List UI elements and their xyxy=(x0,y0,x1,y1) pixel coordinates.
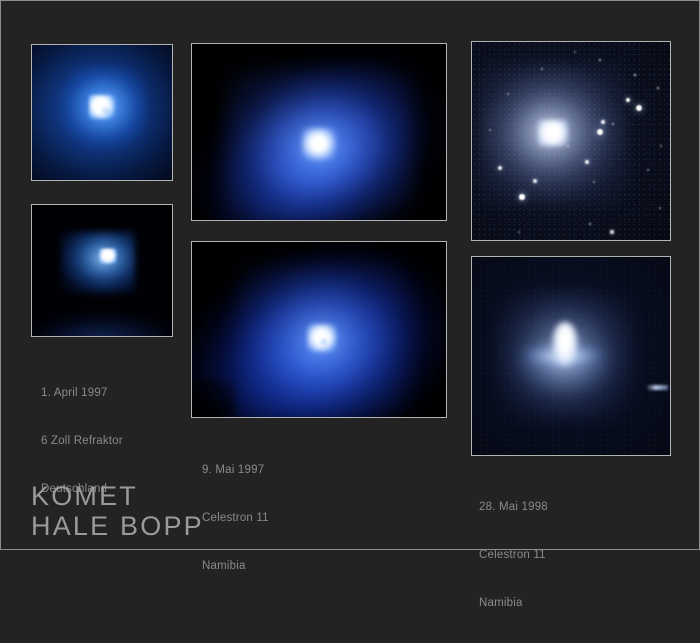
star xyxy=(601,120,605,124)
star xyxy=(610,230,613,233)
comet-photo-center-top[interactable] xyxy=(191,43,447,221)
star xyxy=(533,179,537,183)
star xyxy=(585,160,589,164)
star xyxy=(519,194,524,199)
photo-3-image xyxy=(192,44,446,220)
star xyxy=(574,51,576,53)
caption-2-instrument: Celestron 11 xyxy=(202,510,269,526)
caption-right-column: 28. Mai 1998 Celestron 11 Namibia xyxy=(479,467,548,643)
comet-photo-left-second[interactable] xyxy=(31,204,173,337)
comet-photo-center-bottom[interactable] xyxy=(191,241,447,418)
star xyxy=(507,93,509,95)
star xyxy=(660,145,662,147)
caption-3-instrument: Celestron 11 xyxy=(479,547,548,563)
star xyxy=(636,105,642,111)
caption-1-date: 1. April 1997 xyxy=(41,385,123,401)
star xyxy=(647,169,649,171)
photo-4-image xyxy=(192,242,446,417)
edge-artifact xyxy=(646,385,668,390)
star xyxy=(567,145,569,147)
star xyxy=(541,68,543,70)
poster-canvas: 1. April 1997 6 Zoll Refraktor Deutschla… xyxy=(0,0,700,550)
comet-photo-top-left[interactable] xyxy=(31,44,173,181)
star xyxy=(489,129,491,131)
caption-2-location: Namibia xyxy=(202,558,269,574)
photo-5-image xyxy=(472,42,670,240)
caption-center-column: 9. Mai 1997 Celestron 11 Namibia xyxy=(202,430,269,606)
star xyxy=(659,207,661,209)
photo-6-image xyxy=(472,257,670,455)
star xyxy=(498,166,502,170)
caption-1-instrument: 6 Zoll Refraktor xyxy=(41,433,123,449)
photo-1-image xyxy=(32,45,172,180)
comet-photo-right-bottom[interactable] xyxy=(471,256,671,456)
comet-photo-right-top[interactable] xyxy=(471,41,671,241)
star xyxy=(518,231,520,233)
caption-3-location: Namibia xyxy=(479,595,548,611)
caption-2-date: 9. Mai 1997 xyxy=(202,462,269,478)
page-title: KOMET HALE BOPP xyxy=(31,481,204,541)
photo-2-image xyxy=(32,205,172,336)
caption-3-date: 28. Mai 1998 xyxy=(479,499,548,515)
title-line-1: KOMET xyxy=(31,481,204,511)
title-line-2: HALE BOPP xyxy=(31,511,204,541)
star xyxy=(593,181,595,183)
